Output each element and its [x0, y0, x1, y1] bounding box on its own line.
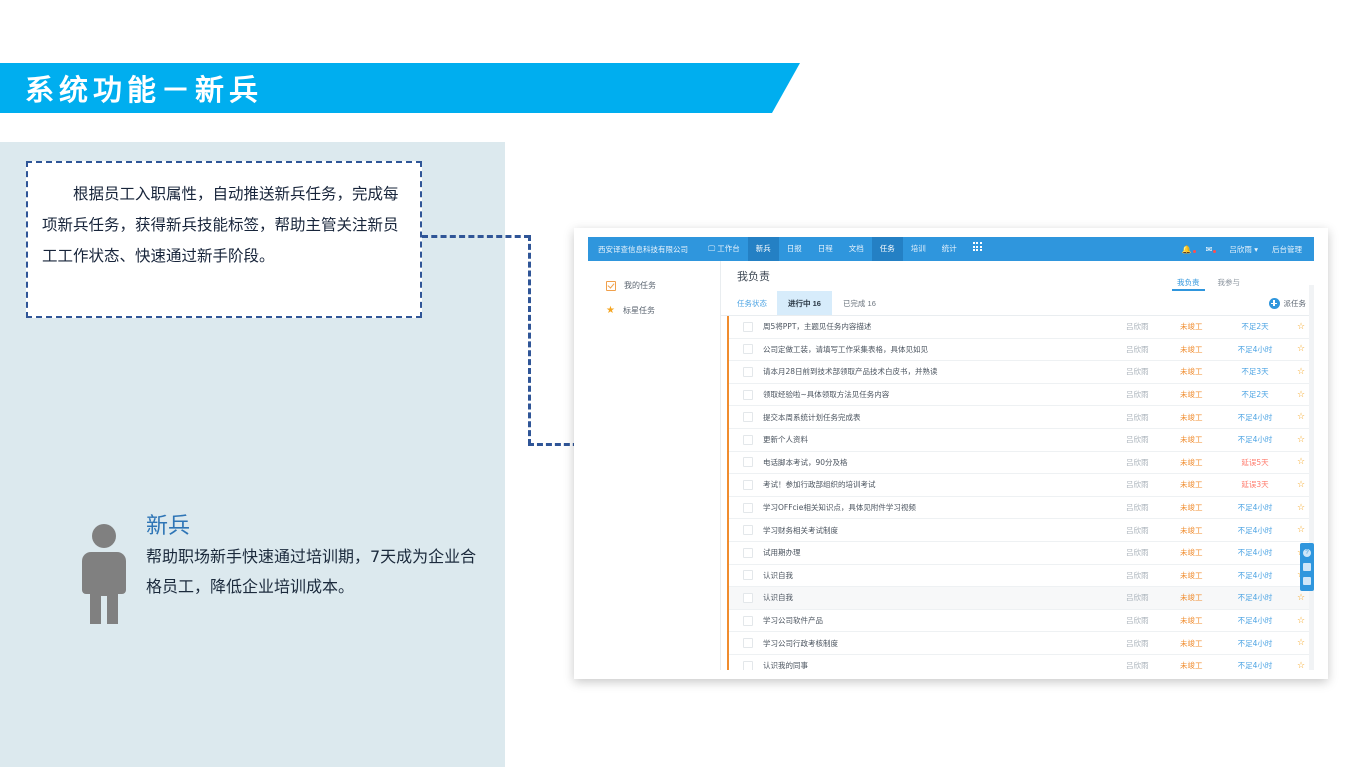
task-title[interactable]: 学习财务相关考试制度: [763, 525, 1126, 536]
task-owner: 吕欣雨: [1126, 366, 1180, 377]
app-sidebar: 我的任务 ★ 标星任务: [588, 261, 721, 670]
app-main: 我负责 我负责 我参与 任务状态 进行中 16 已完成 16 派任务: [721, 261, 1314, 670]
task-title[interactable]: 学习公司软件产品: [763, 615, 1126, 626]
persona-title: 新兵: [146, 512, 486, 542]
nav-item-training[interactable]: 培训: [903, 237, 934, 261]
app-body: 我的任务 ★ 标星任务 我负责 我负责 我参与 任务状态: [588, 261, 1314, 670]
table-row[interactable]: 学习OFFcie相关知识点，具体见附件学习视频吕欣雨未竣工不足4小时☆: [729, 497, 1314, 520]
task-title[interactable]: 请本月28日前到技术部领取产品技术白皮书，并熟读: [763, 366, 1126, 377]
row-checkbox[interactable]: [743, 616, 753, 626]
user-menu[interactable]: 吕欣雨 ▾: [1219, 244, 1268, 255]
task-title[interactable]: 更新个人资料: [763, 434, 1126, 445]
task-owner: 吕欣雨: [1126, 615, 1180, 626]
task-due: 不足4小时: [1222, 638, 1288, 649]
status-badge: 未竣工: [1180, 525, 1222, 536]
sidebar-item-label: 标星任务: [623, 305, 655, 316]
table-row[interactable]: 电话脚本考试，90分及格吕欣雨未竣工延误5天☆: [729, 452, 1314, 475]
row-checkbox[interactable]: [743, 344, 753, 354]
task-owner: 吕欣雨: [1126, 479, 1180, 490]
nav-item-documents[interactable]: 文档: [841, 237, 872, 261]
task-title[interactable]: 电话脚本考试，90分及格: [763, 457, 1126, 468]
table-row[interactable]: 更新个人资料吕欣雨未竣工不足4小时☆: [729, 429, 1314, 452]
nav-item-tasks[interactable]: 任务: [872, 237, 903, 261]
status-badge: 未竣工: [1180, 638, 1222, 649]
feedback-icon[interactable]: [1303, 563, 1311, 571]
row-checkbox[interactable]: [743, 412, 753, 422]
sidebar-item-my-tasks[interactable]: 我的任务: [588, 273, 720, 298]
task-due: 不足4小时: [1222, 344, 1288, 355]
table-row[interactable]: 请本月28日前到技术部领取产品技术白皮书，并熟读吕欣雨未竣工不足3天☆: [729, 361, 1314, 384]
tab-participating[interactable]: 我参与: [1218, 277, 1241, 291]
task-due: 不足4小时: [1222, 660, 1288, 670]
table-row[interactable]: 提交本周系统计划任务完成表吕欣雨未竣工不足4小时☆: [729, 406, 1314, 429]
task-due: 不足4小时: [1222, 547, 1288, 558]
task-owner: 吕欣雨: [1126, 525, 1180, 536]
task-owner: 吕欣雨: [1126, 457, 1180, 468]
task-owner: 吕欣雨: [1126, 321, 1180, 332]
task-title[interactable]: 领取经验啦~具体领取方法见任务内容: [763, 389, 1126, 400]
task-due: 不足4小时: [1222, 502, 1288, 513]
status-badge: 未竣工: [1180, 389, 1222, 400]
assign-task-button[interactable]: 派任务: [1269, 291, 1307, 315]
table-row[interactable]: 考试！参加行政部组织的培训考试吕欣雨未竣工延误3天☆: [729, 474, 1314, 497]
task-due: 不足4小时: [1222, 434, 1288, 445]
plus-circle-icon: [1269, 298, 1280, 309]
persona-description: 帮助职场新手快速通过培训期，7天成为企业合格员工，降低企业培训成本。: [146, 542, 486, 602]
monitor-icon: 🖵: [708, 237, 715, 261]
title-banner: 系统功能－新兵: [0, 63, 800, 113]
status-badge: 未竣工: [1180, 434, 1222, 445]
task-title[interactable]: 学习OFFcie相关知识点，具体见附件学习视频: [763, 502, 1126, 513]
row-checkbox[interactable]: [743, 480, 753, 490]
task-due: 不足4小时: [1222, 592, 1288, 603]
status-badge: 未竣工: [1180, 457, 1222, 468]
task-title[interactable]: 认识我的同事: [763, 660, 1126, 670]
main-title: 我负责: [737, 268, 770, 284]
app-screenshot: 西安译查信息科技有限公司 🖵工作台 新兵 日报 日程 文档 任务 培训 统计 🔔…: [574, 228, 1328, 679]
nav-item-schedule[interactable]: 日程: [810, 237, 841, 261]
row-checkbox[interactable]: [743, 548, 753, 558]
table-row[interactable]: 认识我的同事吕欣雨未竣工不足4小时☆: [729, 655, 1314, 670]
table-row[interactable]: 学习公司行政考核制度吕欣雨未竣工不足4小时☆: [729, 632, 1314, 655]
filter-tab-completed[interactable]: 已完成 16: [832, 291, 887, 315]
row-checkbox[interactable]: [743, 638, 753, 648]
nav-item-statistics[interactable]: 统计: [934, 237, 965, 261]
nav-item-daily-report[interactable]: 日报: [779, 237, 810, 261]
filter-bar: 任务状态 进行中 16 已完成 16 派任务: [721, 291, 1314, 316]
row-checkbox[interactable]: [743, 570, 753, 580]
company-name: 西安译查信息科技有限公司: [588, 244, 700, 255]
description-text: 根据员工入职属性，自动推送新兵任务，完成每项新兵任务，获得新兵技能标签，帮助主管…: [28, 163, 420, 272]
task-owner: 吕欣雨: [1126, 592, 1180, 603]
task-owner: 吕欣雨: [1126, 344, 1180, 355]
task-title[interactable]: 考试！参加行政部组织的培训考试: [763, 479, 1126, 490]
table-row[interactable]: 学习公司软件产品吕欣雨未竣工不足4小时☆: [729, 610, 1314, 633]
status-badge: 未竣工: [1180, 366, 1222, 377]
row-checkbox[interactable]: [743, 322, 753, 332]
task-title[interactable]: 周5将PPT，主题见任务内容描述: [763, 321, 1126, 332]
sidebar-item-starred-tasks[interactable]: ★ 标星任务: [588, 298, 720, 323]
filter-tab-in-progress[interactable]: 进行中 16: [777, 291, 832, 315]
tab-responsible[interactable]: 我负责: [1177, 277, 1200, 291]
task-due: 不足4小时: [1222, 570, 1288, 581]
filter-label-status[interactable]: 任务状态: [721, 291, 777, 315]
status-badge: 未竣工: [1180, 502, 1222, 513]
nav-item-workbench[interactable]: 🖵工作台: [700, 237, 748, 261]
chevron-down-icon: ▾: [1254, 245, 1258, 254]
nav-item-recruit[interactable]: 新兵: [748, 237, 779, 261]
task-owner: 吕欣雨: [1126, 434, 1180, 445]
task-due: 不足4小时: [1222, 615, 1288, 626]
assign-task-label: 派任务: [1284, 298, 1307, 309]
bell-icon[interactable]: 🔔: [1175, 245, 1199, 254]
row-checkbox[interactable]: [743, 593, 753, 603]
admin-link[interactable]: 后台管理: [1268, 244, 1314, 255]
row-checkbox[interactable]: [743, 661, 753, 670]
task-title[interactable]: 公司定做工装，请填写工作采集表格，具体见如见: [763, 344, 1126, 355]
mail-icon[interactable]: ✉: [1199, 245, 1220, 254]
page-title: 系统功能－新兵: [25, 67, 263, 109]
task-list: 周5将PPT，主题见任务内容描述吕欣雨未竣工不足2天☆公司定做工装，请填写工作采…: [729, 316, 1314, 670]
main-tabs: 我负责 我参与: [1177, 277, 1240, 291]
row-checkbox[interactable]: [743, 435, 753, 445]
task-title[interactable]: 学习公司行政考核制度: [763, 638, 1126, 649]
status-badge: 未竣工: [1180, 344, 1222, 355]
task-due: 不足3天: [1222, 366, 1288, 377]
apps-grid-icon[interactable]: [965, 237, 990, 261]
row-checkbox[interactable]: [743, 367, 753, 377]
status-badge: 未竣工: [1180, 547, 1222, 558]
status-badge: 未竣工: [1180, 412, 1222, 423]
task-due: 不足2天: [1222, 321, 1288, 332]
task-owner: 吕欣雨: [1126, 638, 1180, 649]
persona-block: 新兵 帮助职场新手快速通过培训期，7天成为企业合格员工，降低企业培训成本。: [78, 512, 478, 622]
task-title[interactable]: 试用期办理: [763, 547, 1126, 558]
table-row[interactable]: 认识自我吕欣雨未竣工不足4小时☆: [729, 587, 1314, 610]
row-checkbox[interactable]: [743, 525, 753, 535]
table-row[interactable]: 周5将PPT，主题见任务内容描述吕欣雨未竣工不足2天☆: [729, 316, 1314, 339]
task-due: 延误3天: [1222, 479, 1288, 490]
person-icon: [78, 524, 132, 624]
table-row[interactable]: 领取经验啦~具体领取方法见任务内容吕欣雨未竣工不足2天☆: [729, 384, 1314, 407]
checkbox-icon: [606, 281, 616, 291]
task-title[interactable]: 认识自我: [763, 592, 1126, 603]
table-row[interactable]: 公司定做工装，请填写工作采集表格，具体见如见吕欣雨未竣工不足4小时☆: [729, 339, 1314, 362]
help-icon[interactable]: ?: [1303, 549, 1311, 557]
status-badge: 未竣工: [1180, 479, 1222, 490]
vertical-scrollbar[interactable]: [1309, 285, 1314, 670]
task-owner: 吕欣雨: [1126, 389, 1180, 400]
task-due: 不足4小时: [1222, 525, 1288, 536]
table-row[interactable]: 学习财务相关考试制度吕欣雨未竣工不足4小时☆: [729, 519, 1314, 542]
row-checkbox[interactable]: [743, 457, 753, 467]
status-badge: 未竣工: [1180, 592, 1222, 603]
table-row[interactable]: 试用期办理吕欣雨未竣工不足4小时☆: [729, 542, 1314, 565]
task-due: 不足4小时: [1222, 412, 1288, 423]
status-badge: 未竣工: [1180, 321, 1222, 332]
row-checkbox[interactable]: [743, 390, 753, 400]
task-owner: 吕欣雨: [1126, 660, 1180, 670]
main-header: 我负责 我负责 我参与: [721, 261, 1314, 291]
qrcode-icon[interactable]: [1303, 577, 1311, 585]
task-owner: 吕欣雨: [1126, 547, 1180, 558]
floating-help-widget[interactable]: ?: [1300, 543, 1314, 591]
status-badge: 未竣工: [1180, 570, 1222, 581]
row-checkbox[interactable]: [743, 503, 753, 513]
task-list-wrap: 周5将PPT，主题见任务内容描述吕欣雨未竣工不足2天☆公司定做工装，请填写工作采…: [721, 316, 1314, 670]
status-badge: 未竣工: [1180, 615, 1222, 626]
task-title[interactable]: 认识自我: [763, 570, 1126, 581]
task-owner: 吕欣雨: [1126, 570, 1180, 581]
connector-line-top: [422, 235, 530, 238]
table-row[interactable]: 认识自我吕欣雨未竣工不足4小时☆: [729, 565, 1314, 588]
app-navbar: 西安译查信息科技有限公司 🖵工作台 新兵 日报 日程 文档 任务 培训 统计 🔔…: [588, 237, 1314, 261]
slide-root: 系统功能－新兵 根据员工入职属性，自动推送新兵任务，完成每项新兵任务，获得新兵技…: [0, 0, 1363, 767]
connector-line-vertical: [528, 235, 531, 445]
description-callout: 根据员工入职属性，自动推送新兵任务，完成每项新兵任务，获得新兵技能标签，帮助主管…: [26, 161, 422, 318]
task-due: 延误5天: [1222, 457, 1288, 468]
star-icon: ★: [606, 307, 615, 315]
task-owner: 吕欣雨: [1126, 502, 1180, 513]
status-badge: 未竣工: [1180, 660, 1222, 670]
task-due: 不足2天: [1222, 389, 1288, 400]
sidebar-item-label: 我的任务: [624, 280, 656, 291]
task-title[interactable]: 提交本周系统计划任务完成表: [763, 412, 1126, 423]
task-owner: 吕欣雨: [1126, 412, 1180, 423]
